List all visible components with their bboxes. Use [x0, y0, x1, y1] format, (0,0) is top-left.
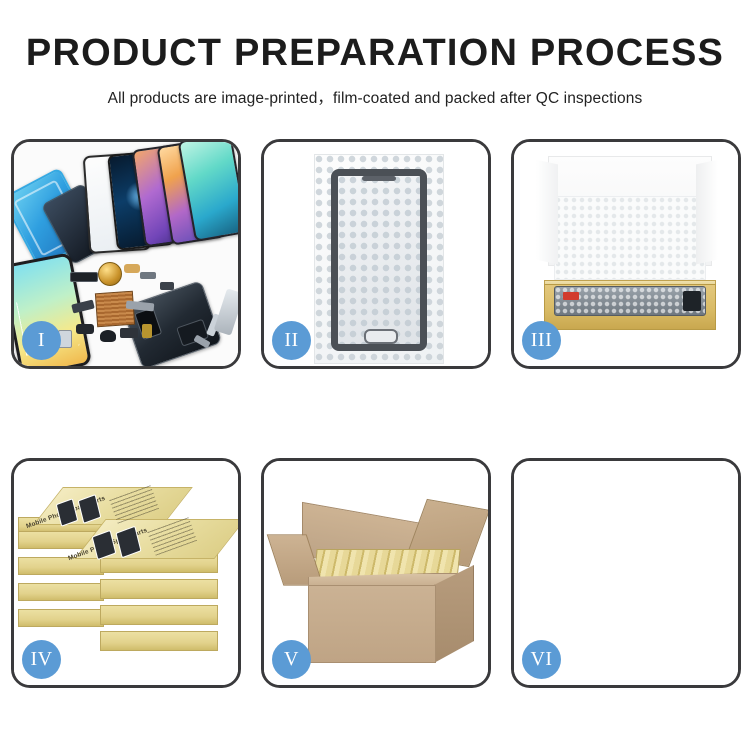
- carton-front-panel-image: [308, 585, 436, 663]
- phone-back-housing-image: [122, 280, 223, 366]
- earpiece-slot-icon: [362, 176, 396, 181]
- coil-component-image: [98, 262, 122, 286]
- module-part: [120, 328, 138, 338]
- stacked-box: [100, 631, 218, 651]
- step-badge-3: III: [522, 321, 561, 360]
- connector-part: [70, 272, 98, 282]
- bubble-wrap-sheet-image: [314, 154, 444, 364]
- stacked-box: [18, 583, 104, 601]
- process-step-panel-1[interactable]: I: [11, 139, 241, 369]
- step-badge-2: II: [272, 321, 311, 360]
- small-connector-part: [160, 282, 174, 290]
- packed-screen-image: [554, 286, 706, 316]
- button-part: [76, 324, 94, 334]
- process-step-panel-3[interactable]: III: [511, 139, 741, 369]
- flex-cable-part: [124, 264, 140, 273]
- home-button-slot-icon: [364, 329, 398, 344]
- bracket-part: [140, 272, 156, 279]
- box-flap-right-image: [696, 160, 718, 265]
- page-title: PRODUCT PREPARATION PROCESS: [0, 34, 750, 74]
- chip-array-image: [95, 291, 135, 328]
- foam-padding-image: [554, 196, 706, 280]
- gold-contact-part: [142, 324, 152, 338]
- wrapped-screen-image: [331, 169, 427, 351]
- process-step-panel-4[interactable]: Mobile Phone Spare Parts Mobile Phone Sp…: [11, 458, 241, 688]
- carton-top-panel-image: [536, 489, 716, 561]
- stacked-box: [100, 605, 218, 625]
- process-step-grid: I II III: [11, 139, 742, 688]
- page-subtitle: All products are image-printed，film-coat…: [0, 86, 750, 108]
- stacked-box: [100, 579, 218, 599]
- stacked-box: [18, 557, 104, 575]
- box-flap-left-image: [536, 160, 558, 265]
- process-step-panel-5[interactable]: V: [261, 458, 491, 688]
- page-header: PRODUCT PREPARATION PROCESS All products…: [0, 0, 750, 108]
- step-badge-1: I: [22, 321, 61, 360]
- stacked-box: [18, 609, 104, 627]
- speaker-part: [100, 330, 116, 342]
- step-badge-5: V: [272, 640, 311, 679]
- tool-part: [214, 288, 238, 335]
- step-badge-4: IV: [22, 640, 61, 679]
- red-sticker-icon: [563, 292, 579, 300]
- process-step-panel-6[interactable]: VI: [511, 458, 741, 688]
- step-badge-6: VI: [522, 640, 561, 679]
- process-step-panel-2[interactable]: II: [261, 139, 491, 369]
